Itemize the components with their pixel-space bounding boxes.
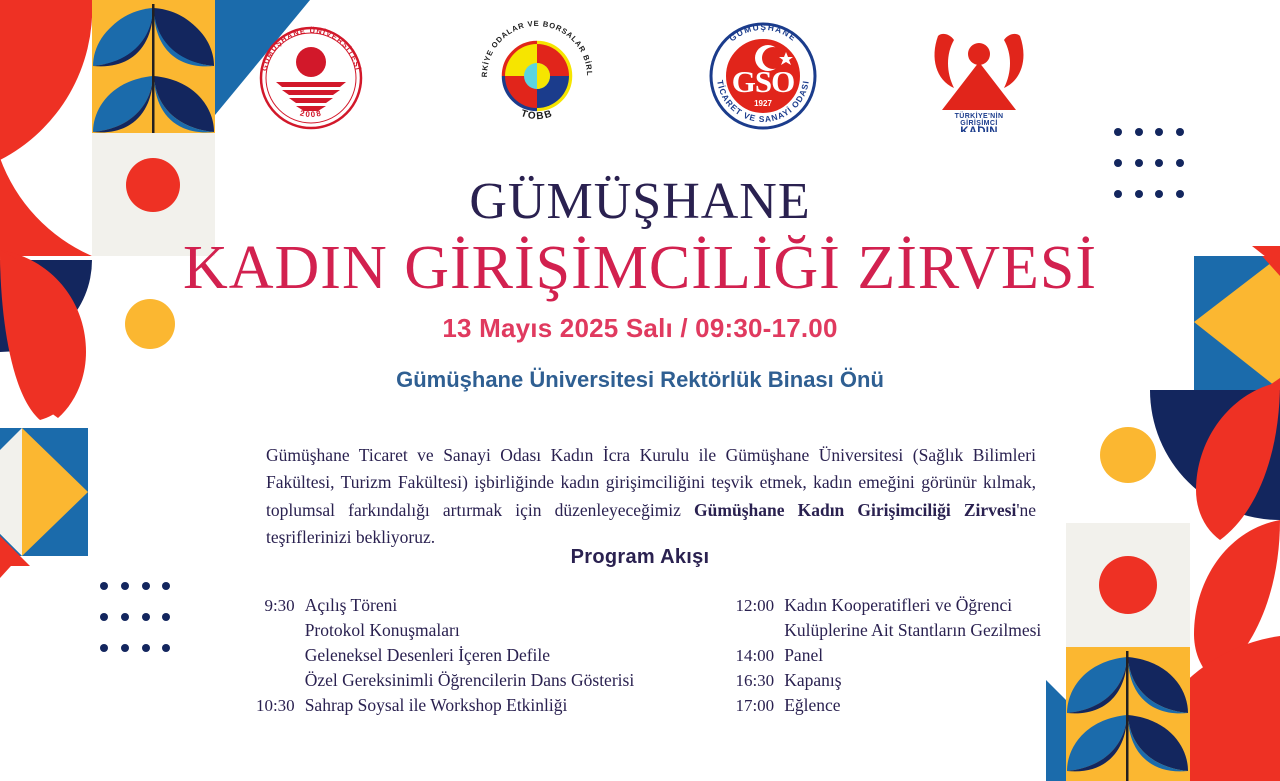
event-poster: GÜMÜŞHANE ÜNİVERSİTESİ 2008 (0, 0, 1280, 781)
schedule-item: Açılış Töreni (305, 593, 398, 618)
schedule-time: 17:00 (718, 694, 784, 718)
gumushane-universitesi-logo: GÜMÜŞHANE ÜNİVERSİTESİ 2008 (246, 14, 376, 132)
schedule-time: 16:30 (718, 669, 784, 693)
kadin-gucu-logo: TÜRKİYE'NİN GİRİŞİMCİ KADIN GÜCÜ (924, 14, 1034, 132)
program-schedule: 9:30 Açılış Töreni Protokol Konuşmaları … (0, 593, 1280, 718)
schedule-item: Kapanış (784, 668, 841, 693)
schedule-item: Eğlence (784, 693, 840, 718)
event-venue: Gümüşhane Üniversitesi Rektörlük Binası … (0, 367, 1280, 393)
svg-text:TÜRKİYE'NİN: TÜRKİYE'NİN (955, 111, 1004, 120)
schedule-time: 10:30 (239, 694, 305, 718)
logo-strip: GÜMÜŞHANE ÜNİVERSİTESİ 2008 (0, 14, 1280, 140)
schedule-item: Kulüplerine Ait Stantların Gezilmesi (784, 618, 1041, 643)
svg-text:1927: 1927 (754, 99, 772, 108)
invitation-paragraph: Gümüşhane Ticaret ve Sanayi Odası Kadın … (266, 442, 1036, 553)
schedule-item: Geleneksel Desenleri İçeren Defile (305, 643, 550, 668)
schedule-item: Kadın Kooperatifleri ve Öğrenci (784, 593, 1012, 618)
schedule-column-right: 12:00 Kadın Kooperatifleri ve Öğrenci Ku… (718, 593, 1041, 718)
gtso-logo: GSO 1927 GÜMÜŞHANE TİCARET VE SANAYİ ODA… (698, 14, 828, 132)
schedule-row: 12:00 Kadın Kooperatifleri ve Öğrenci (718, 593, 1041, 618)
schedule-item: Protokol Konuşmaları (305, 618, 460, 643)
schedule-row: Özel Gereksinimli Öğrencilerin Dans Göst… (239, 668, 635, 693)
schedule-row: 17:00 Eğlence (718, 693, 1041, 718)
schedule-row: Kulüplerine Ait Stantların Gezilmesi (718, 618, 1041, 643)
schedule-time: 12:00 (718, 594, 784, 618)
svg-text:KADIN: KADIN (960, 126, 997, 132)
schedule-row: Protokol Konuşmaları (239, 618, 635, 643)
tobb-logo: TÜRKİYE ODALAR VE BORSALAR BİRLİĞİ TOBB (472, 14, 602, 132)
schedule-row: 10:30 Sahrap Soysal ile Workshop Etkinli… (239, 693, 635, 718)
svg-text:2008: 2008 (299, 109, 323, 120)
schedule-item: Özel Gereksinimli Öğrencilerin Dans Göst… (305, 668, 635, 693)
schedule-row: 9:30 Açılış Töreni (239, 593, 635, 618)
schedule-row: Geleneksel Desenleri İçeren Defile (239, 643, 635, 668)
svg-text:GSO: GSO (732, 64, 794, 99)
event-date: 13 Mayıs 2025 Salı / 09:30-17.00 (0, 313, 1280, 344)
schedule-column-left: 9:30 Açılış Töreni Protokol Konuşmaları … (239, 593, 635, 718)
schedule-row: 14:00 Panel (718, 643, 1041, 668)
program-heading: Program Akışı (0, 546, 1280, 569)
schedule-time: 9:30 (239, 594, 305, 618)
page-title: GÜMÜŞHANE (0, 176, 1280, 228)
schedule-item: Sahrap Soysal ile Workshop Etkinliği (305, 693, 568, 718)
schedule-row: 16:30 Kapanış (718, 668, 1041, 693)
page-subtitle: KADIN GİRİŞİMCİLİĞİ ZİRVESİ (0, 236, 1280, 301)
invitation-text-bold: Gümüşhane Kadın Girişimciliği Zirvesi (694, 500, 1016, 520)
schedule-item: Panel (784, 643, 823, 668)
schedule-time: 14:00 (718, 644, 784, 668)
